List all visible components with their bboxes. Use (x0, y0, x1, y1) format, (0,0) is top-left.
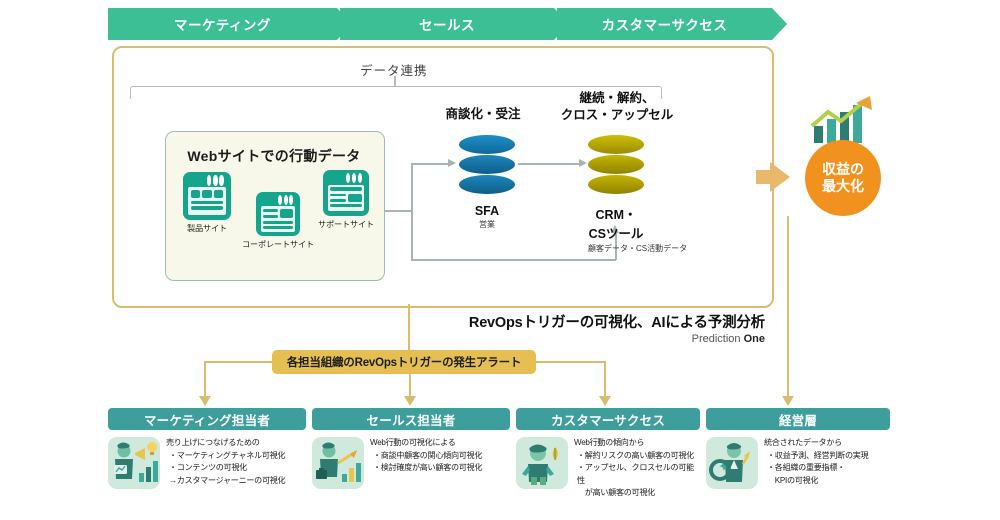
phase-marketing: マーケティング (108, 8, 337, 40)
panel-marketer: マーケティング担当者 売り上げにつなげるための (108, 408, 306, 516)
gold-drop-4 (787, 216, 789, 399)
corporate-site-icon (256, 192, 300, 236)
panel-exec-title: 経営層 (706, 408, 890, 430)
gold-line-right (536, 361, 606, 363)
site-corporate: コーポレートサイト (238, 192, 318, 250)
gold-line-alert-left2 (204, 361, 270, 363)
phase-sales: セールス (340, 8, 554, 40)
sfa-subtitle: 営業 (459, 219, 515, 230)
gold-arrow-2 (404, 396, 416, 406)
connector-web-out (385, 210, 413, 212)
panel-sales: セールス担当者 Web行動の可視化による ・商談中顧客の関心 (312, 408, 510, 516)
crm-heading-line2: クロス・アップセル (561, 108, 674, 122)
arrowhead-to-crm (579, 159, 587, 167)
panel-exec-text: 統合されたデータから ・収益予測、経営判断の実現 ・各組織の重要指標・ KPIの… (764, 437, 868, 489)
sales-bullet-1: ・商談中顧客の関心傾向可視化 (370, 450, 482, 463)
phase-customer-success: カスタマーサクセス (557, 8, 772, 40)
corporate-site-caption: コーポレートサイト (238, 238, 318, 250)
alert-pill: 各担当組織のRevOpsトリガーの発生アラート (272, 350, 536, 374)
marketer-icon (108, 437, 160, 489)
goal-line1: 収益の (822, 161, 864, 177)
site-support: サポートサイト (312, 170, 380, 230)
marketer-bullet-1: ・マーケティングチャネル可視化 (166, 450, 285, 463)
arrowhead-to-sfa (448, 159, 456, 167)
crm-cylinder-icon (588, 135, 644, 195)
connector-web-riser (411, 164, 413, 212)
phase-customer-success-label: カスタマーサクセス (602, 14, 728, 34)
cs-bullet-3: が高い顧客の可視化 (574, 487, 700, 500)
panel-sales-title: セールス担当者 (312, 408, 510, 430)
cs-bullet-1: ・解約リスクの高い顧客の可視化 (574, 450, 700, 463)
site-product: 製品サイト (176, 172, 238, 234)
crm-title: CRM・CSツール (588, 204, 644, 242)
panel-marketer-text: 売り上げにつなげるための ・マーケティングチャネル可視化 ・コンテンツの可視化 … (166, 437, 285, 489)
phase-banner: マーケティング セールス カスタマーサクセス (108, 8, 772, 40)
cs-bullet-2: ・アップセル、クロスセルの可能性 (574, 462, 700, 487)
prediction-one-label: Prediction One (405, 333, 765, 345)
marketer-lead: 売り上げにつなげるための (166, 437, 285, 450)
gold-drop-3 (604, 361, 606, 399)
support-site-icon (323, 170, 369, 216)
gold-arrow-4 (782, 396, 794, 406)
sfa-database: SFA 営業 (459, 135, 515, 230)
panel-customer-success: カスタマーサクセス Web行動の傾向から ・解約リスクの高い顧客の可視化 (516, 408, 700, 516)
crm-subtitle: 顧客データ・CS活動データ (588, 243, 644, 254)
prediction-name: One (744, 333, 765, 345)
exec-bullet-2: ・各組織の重要指標・ (764, 462, 868, 475)
panel-cs-text: Web行動の傾向から ・解約リスクの高い顧客の可視化 ・アップセル、クロスセルの… (574, 437, 700, 500)
crm-heading-line1: 継続・解約、 (579, 91, 654, 105)
exec-bullet-3: KPIの可視化 (764, 475, 868, 488)
marketer-bullet-2: ・コンテンツの可視化 (166, 462, 285, 475)
support-site-caption: サポートサイト (312, 218, 380, 230)
goal-arrow (770, 162, 790, 192)
customer-success-icon (516, 437, 568, 489)
gold-arrow-1 (199, 396, 211, 406)
revops-caption: RevOpsトリガーの可視化、AIによる予測分析 (405, 311, 765, 332)
cs-lead: Web行動の傾向から (574, 437, 700, 450)
connector-loop-bottom (411, 259, 616, 261)
goal-line2: 最大化 (822, 178, 864, 194)
phase-marketing-label: マーケティング (174, 14, 271, 34)
crm-heading: 継続・解約、 クロス・アップセル (537, 90, 697, 124)
prediction-prefix: Prediction (692, 333, 744, 345)
gold-arrow-3 (599, 396, 611, 406)
panel-sales-text: Web行動の可視化による ・商談中顧客の関心傾向可視化 ・検討確度が高い顧客の可… (370, 437, 482, 489)
marketer-bullet-3: →カスタマージャーニーの可視化 (166, 475, 285, 488)
connector-loop-riser (411, 212, 413, 260)
product-site-icon (183, 172, 231, 220)
growth-chart-icon (808, 96, 878, 144)
sales-bullet-2: ・検討確度が高い顧客の可視化 (370, 462, 482, 475)
executive-icon (706, 437, 758, 489)
panel-marketer-title: マーケティング担当者 (108, 408, 306, 430)
web-box-title: Webサイトでの行動データ (165, 146, 383, 166)
exec-lead: 統合されたデータから (764, 437, 868, 450)
sfa-title: SFA (459, 204, 515, 218)
crm-database: CRM・CSツール 顧客データ・CS活動データ (588, 135, 644, 254)
salesperson-icon (312, 437, 364, 489)
gold-drop-1 (204, 361, 206, 399)
panel-cs-title: カスタマーサクセス (516, 408, 700, 430)
sfa-cylinder-icon (459, 135, 515, 195)
sales-lead: Web行動の可視化による (370, 437, 482, 450)
panel-executive: 経営層 統合されたデータから ・収益予測、経営判断の実現 ・各組織 (706, 408, 890, 516)
product-site-caption: 製品サイト (176, 222, 238, 234)
phase-sales-label: セールス (419, 14, 475, 34)
connector-sfa-to-crm (518, 163, 580, 165)
diagram-canvas: マーケティング セールス カスタマーサクセス データ連携 Webサイトでの行動デ… (0, 0, 1000, 520)
goal-circle: 収益の 最大化 (805, 140, 881, 216)
connector-web-to-sfa (411, 163, 449, 165)
exec-bullet-1: ・収益予測、経営判断の実現 (764, 450, 868, 463)
